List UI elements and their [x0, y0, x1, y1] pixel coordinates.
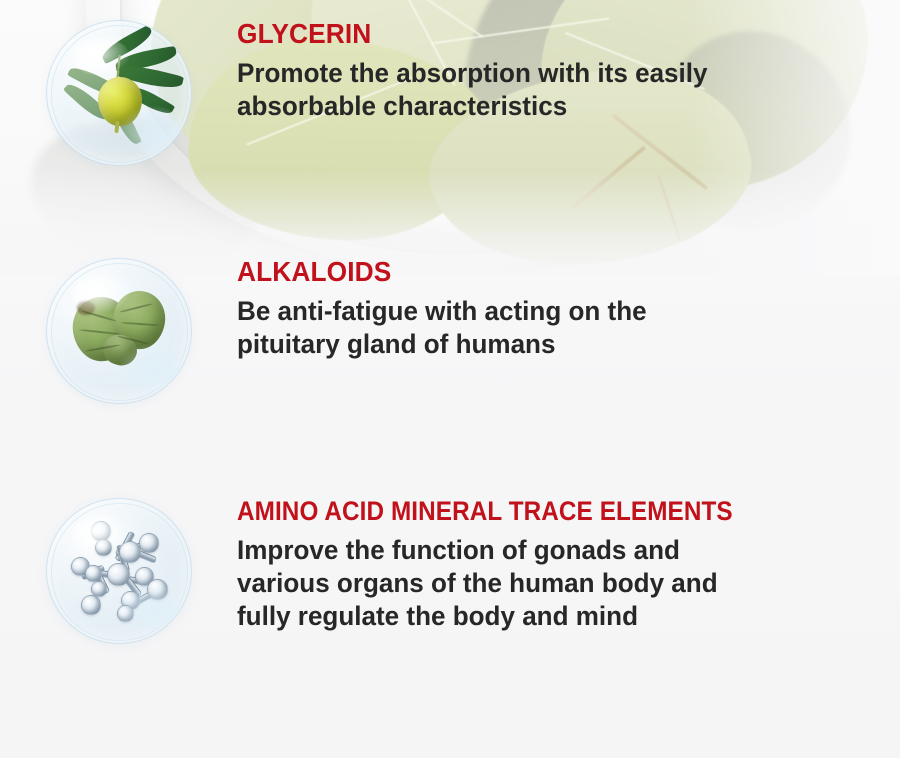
molecule-atom	[85, 565, 102, 582]
section-alkaloids: ALKALOIDS Be anti-fatigue with acting on…	[0, 258, 900, 418]
section-amino-acid: AMINO ACID MINERAL TRACE ELEMENTS Improv…	[0, 498, 900, 678]
molecule-atom	[91, 581, 107, 597]
molecule-atom	[119, 541, 141, 563]
amino-acid-icon-cell	[0, 498, 237, 644]
amino-acid-text-cell: AMINO ACID MINERAL TRACE ELEMENTS Improv…	[237, 498, 900, 633]
alkaloids-text-cell: ALKALOIDS Be anti-fatigue with acting on…	[237, 258, 900, 361]
amino-acid-description: Improve the function of gonads and vario…	[237, 534, 852, 633]
bubble-glint	[116, 343, 182, 392]
molecule-atom	[95, 539, 112, 556]
glycerin-description-line-1: Promote the absorption with its easily	[237, 57, 852, 90]
glycerin-description: Promote the absorption with its easily a…	[237, 57, 852, 123]
molecule-atom	[107, 563, 130, 586]
ingredient-benefits-poster: GLYCERIN Promote the absorption with its…	[0, 0, 900, 758]
bubble-glint	[116, 105, 182, 154]
bubble-glint	[116, 583, 182, 632]
amino-acid-description-line-2: various organs of the human body and	[237, 567, 852, 600]
glycerin-icon-cell	[0, 20, 237, 166]
glycerin-description-line-2: absorbable characteristics	[237, 90, 852, 123]
alkaloids-icon-cell	[0, 258, 237, 404]
olive-branch-bubble-icon	[46, 20, 192, 166]
section-glycerin: GLYCERIN Promote the absorption with its…	[0, 20, 900, 190]
artichoke-bubble-icon	[46, 258, 192, 404]
amino-acid-heading: AMINO ACID MINERAL TRACE ELEMENTS	[237, 498, 810, 525]
alkaloids-heading: ALKALOIDS	[237, 258, 836, 286]
molecule-bubble-icon	[46, 498, 192, 644]
alkaloids-description-line-1: Be anti-fatigue with acting on the	[237, 295, 852, 328]
glycerin-heading: GLYCERIN	[237, 20, 836, 48]
alkaloids-description-line-2: pituitary gland of humans	[237, 328, 852, 361]
glycerin-text-cell: GLYCERIN Promote the absorption with its…	[237, 20, 900, 123]
amino-acid-description-line-1: Improve the function of gonads and	[237, 534, 852, 567]
alkaloids-description: Be anti-fatigue with acting on the pitui…	[237, 295, 852, 361]
molecule-atom	[139, 533, 159, 553]
amino-acid-description-line-3: fully regulate the body and mind	[237, 600, 852, 633]
molecule-atom	[91, 521, 111, 541]
molecule-atom	[81, 595, 101, 615]
